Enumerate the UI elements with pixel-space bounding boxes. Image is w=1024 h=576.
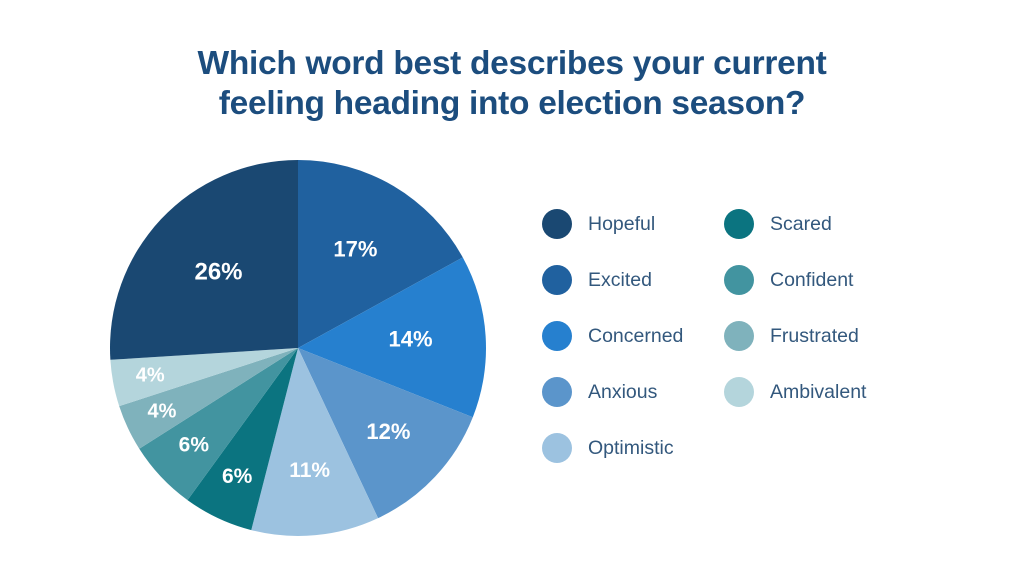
legend-item-frustrated[interactable]: Frustrated	[724, 308, 866, 364]
pie-slice-label: 4%	[136, 364, 165, 386]
page-title-line-1: Which word best describes your current	[92, 44, 932, 84]
legend-item-confident[interactable]: Confident	[724, 252, 866, 308]
legend-item-label: Anxious	[588, 381, 657, 404]
pie-chart-svg: 17%14%12%11%6%6%4%4%26%	[98, 148, 498, 548]
legend-item-hopeful[interactable]: Hopeful	[542, 196, 683, 252]
legend-item-label: Hopeful	[588, 213, 655, 236]
legend-item-label: Frustrated	[770, 325, 859, 348]
pie-slice-label: 6%	[222, 465, 253, 488]
legend-swatch-circle-icon	[542, 321, 572, 351]
legend-item-label: Concerned	[588, 325, 683, 348]
pie-slice-label: 12%	[366, 419, 410, 444]
legend-swatch-circle-icon	[542, 433, 572, 463]
legend-swatch-circle-icon	[542, 377, 572, 407]
page-title: Which word best describes your current f…	[92, 44, 932, 124]
page-title-line-2: feeling heading into election season?	[92, 84, 932, 124]
legend-column-left: HopefulExcitedConcernedAnxiousOptimistic	[542, 196, 683, 476]
legend-item-anxious[interactable]: Anxious	[542, 364, 683, 420]
legend-item-label: Excited	[588, 269, 652, 292]
legend-swatch-circle-icon	[724, 377, 754, 407]
legend-item-label: Scared	[770, 213, 832, 236]
legend-column-right: ScaredConfidentFrustratedAmbivalent	[724, 196, 866, 420]
pie-chart: 17%14%12%11%6%6%4%4%26%	[98, 148, 498, 548]
legend-item-ambivalent[interactable]: Ambivalent	[724, 364, 866, 420]
pie-slice-label: 6%	[179, 433, 210, 456]
legend-item-label: Confident	[770, 269, 853, 292]
legend-swatch-circle-icon	[724, 265, 754, 295]
legend-item-label: Optimistic	[588, 437, 674, 460]
legend-item-excited[interactable]: Excited	[542, 252, 683, 308]
legend-item-optimistic[interactable]: Optimistic	[542, 420, 683, 476]
infographic-canvas: Which word best describes your current f…	[0, 0, 1024, 576]
pie-slice-label: 11%	[289, 459, 330, 482]
legend-item-label: Ambivalent	[770, 381, 866, 404]
legend-swatch-circle-icon	[542, 265, 572, 295]
legend-item-scared[interactable]: Scared	[724, 196, 866, 252]
chart-legend: HopefulExcitedConcernedAnxiousOptimistic…	[542, 196, 942, 486]
pie-slice-label: 14%	[389, 327, 433, 352]
legend-item-concerned[interactable]: Concerned	[542, 308, 683, 364]
legend-swatch-circle-icon	[542, 209, 572, 239]
legend-swatch-circle-icon	[724, 321, 754, 351]
legend-swatch-circle-icon	[724, 209, 754, 239]
pie-slice-label: 17%	[333, 237, 377, 262]
pie-slice-label: 26%	[194, 259, 242, 286]
pie-slice-label: 4%	[147, 400, 176, 422]
